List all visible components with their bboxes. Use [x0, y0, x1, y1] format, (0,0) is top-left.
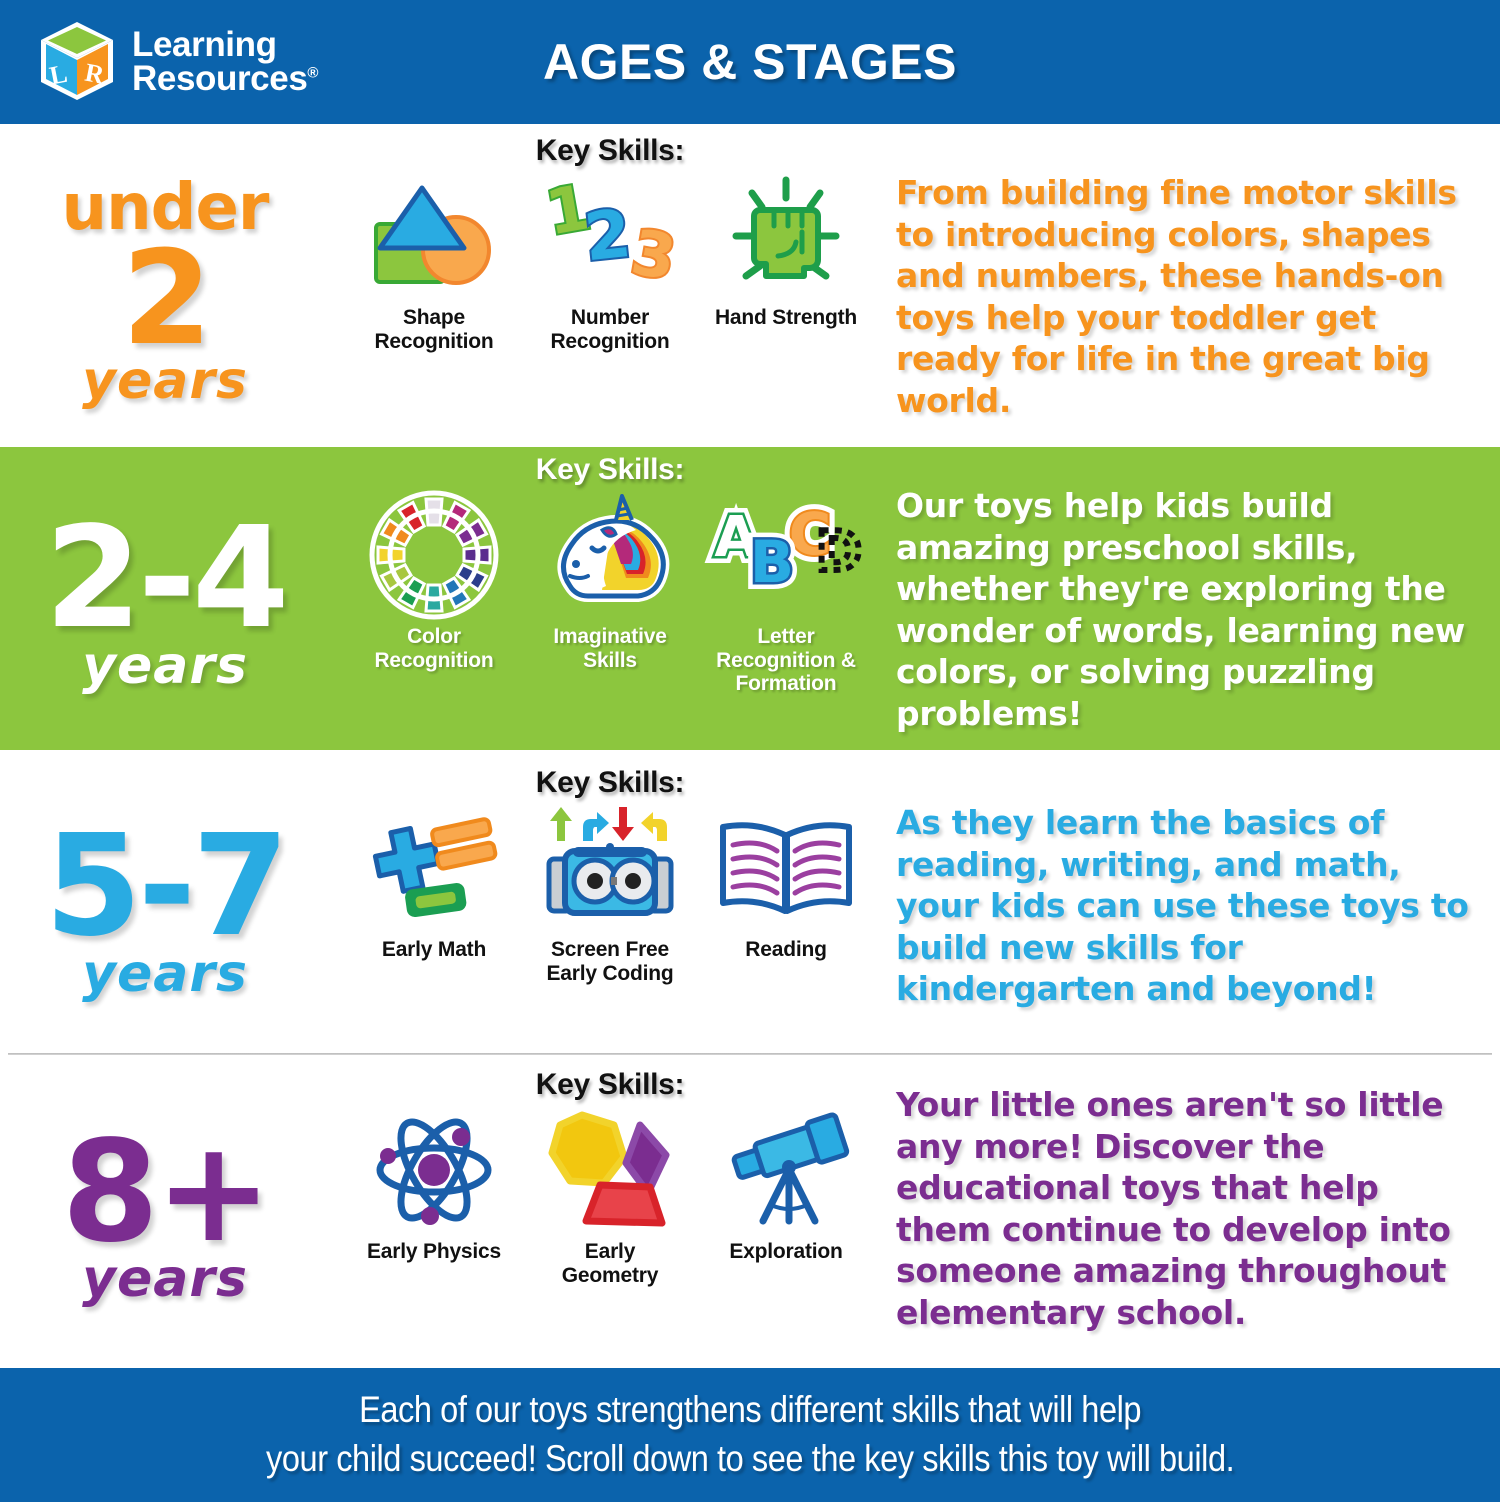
geometry-shapes-icon: [530, 1106, 690, 1234]
key-skills-group-8-plus: Key Skills:: [330, 1062, 890, 1362]
skill-label: Shape Recognition: [374, 306, 493, 353]
color-wheel-icon: [354, 491, 514, 619]
description-column: As they learn the basics of reading, wri…: [890, 760, 1500, 1053]
brand-name: Learning Resources®: [132, 28, 318, 97]
key-skills-heading: Key Skills:: [536, 1068, 684, 1102]
age-number: 2: [122, 239, 208, 359]
key-skills-heading: Key Skills:: [536, 453, 684, 487]
registered-mark: ®: [307, 64, 318, 81]
fist-strength-icon: [706, 172, 866, 300]
skill-exploration: Exploration: [701, 1106, 871, 1264]
skill-label: Early Physics: [367, 1240, 501, 1264]
description-column: Your little ones aren't so little any mo…: [890, 1062, 1500, 1362]
age-label-2-4: 2-4 years: [0, 447, 330, 750]
skill-label: Color Recognition: [374, 625, 493, 672]
skill-number-recognition: 1 2 3 Number Recognition: [525, 172, 695, 353]
brand-line-1: Learning: [132, 28, 318, 62]
skill-label: Hand Strength: [715, 306, 857, 330]
age-unit: years: [82, 355, 248, 407]
page-header: L R Learning Resources® AGES & STAGES: [0, 0, 1500, 124]
skill-letter-recognition: A A C C B B D Letter Recognition &: [701, 491, 871, 696]
skill-early-geometry: Early Geometry: [525, 1106, 695, 1287]
age-label-8-plus: 8+ years: [0, 1062, 330, 1362]
age-row-2-4: 2-4 years Key Skills:: [0, 447, 1500, 750]
age-row-5-7: 5-7 years Key Skills:: [0, 760, 1500, 1053]
skill-label: Imaginative Skills: [553, 625, 666, 672]
coding-robot-icon: [530, 804, 690, 932]
footer-message: Each of our toys strengthens different s…: [266, 1386, 1234, 1484]
skill-label: Early Geometry: [562, 1240, 658, 1287]
open-book-icon: [706, 804, 866, 932]
age-unit: years: [82, 1253, 248, 1305]
brand-logo: L R Learning Resources®: [38, 20, 318, 104]
svg-text:2: 2: [581, 195, 635, 276]
age-unit: years: [82, 948, 248, 1000]
row-description: Our toys help kids build amazing prescho…: [896, 485, 1474, 734]
learning-resources-cube-logo: L R: [38, 20, 116, 104]
skill-screen-free-early-coding: Screen Free Early Coding: [525, 804, 695, 985]
skill-label: Exploration: [729, 1240, 842, 1264]
age-number: 2-4: [45, 515, 286, 644]
key-skills-heading: Key Skills:: [536, 766, 684, 800]
atom-icon: [354, 1106, 514, 1234]
svg-text:D: D: [817, 520, 862, 583]
key-skills-heading: Key Skills:: [536, 134, 684, 168]
row-description: As they learn the basics of reading, wri…: [896, 802, 1474, 1010]
skill-label: Letter Recognition & Formation: [716, 625, 856, 696]
numbers-123-icon: 1 2 3: [530, 172, 690, 300]
skill-reading: Reading: [701, 804, 871, 962]
row-divider: [8, 1053, 1492, 1055]
row-description: Your little ones aren't so little any mo…: [896, 1084, 1474, 1333]
telescope-icon: [706, 1106, 866, 1234]
age-number: 8+: [62, 1129, 269, 1258]
row-description: From building fine motor skills to intro…: [896, 172, 1474, 421]
infographic-page: L R Learning Resources® AGES & STAGES un…: [0, 0, 1500, 1502]
svg-text:B: B: [750, 528, 794, 596]
footer-line-2: your child succeed! Scroll down to see t…: [266, 1435, 1234, 1484]
key-skills-group-under-2: Key Skills: Shape Recognition: [330, 128, 890, 447]
skill-imaginative-skills: Imaginative Skills: [525, 491, 695, 672]
shapes-icon: [354, 172, 514, 300]
skill-label: Number Recognition: [550, 306, 669, 353]
age-row-8-plus: 8+ years Key Skills:: [0, 1062, 1500, 1362]
unicorn-icon: [530, 491, 690, 619]
page-footer: Each of our toys strengthens different s…: [0, 1368, 1500, 1502]
skill-label: Early Math: [382, 938, 486, 962]
age-label-5-7: 5-7 years: [0, 760, 330, 1053]
skill-early-math: Early Math: [349, 804, 519, 962]
math-symbols-icon: [354, 804, 514, 932]
skill-shape-recognition: Shape Recognition: [349, 172, 519, 353]
age-label-under-2: under 2 years: [0, 128, 330, 447]
svg-text:3: 3: [626, 215, 681, 294]
age-row-under-2: under 2 years Key Skills:: [0, 128, 1500, 447]
age-unit: years: [82, 640, 248, 692]
footer-line-1: Each of our toys strengthens different s…: [266, 1386, 1234, 1435]
description-column: From building fine motor skills to intro…: [890, 128, 1500, 447]
age-number: 5-7: [45, 823, 286, 952]
skill-early-physics: Early Physics: [349, 1106, 519, 1264]
abc-letters-icon: A A C C B B D: [706, 491, 866, 619]
description-column: Our toys help kids build amazing prescho…: [890, 447, 1500, 750]
skill-color-recognition: Color Recognition: [349, 491, 519, 672]
skill-label: Reading: [745, 938, 826, 962]
skill-label: Screen Free Early Coding: [546, 938, 673, 985]
key-skills-group-2-4: Key Skills:: [330, 447, 890, 750]
key-skills-group-5-7: Key Skills:: [330, 760, 890, 1053]
brand-line-2: Resources®: [132, 62, 318, 96]
skill-hand-strength: Hand Strength: [701, 172, 871, 330]
